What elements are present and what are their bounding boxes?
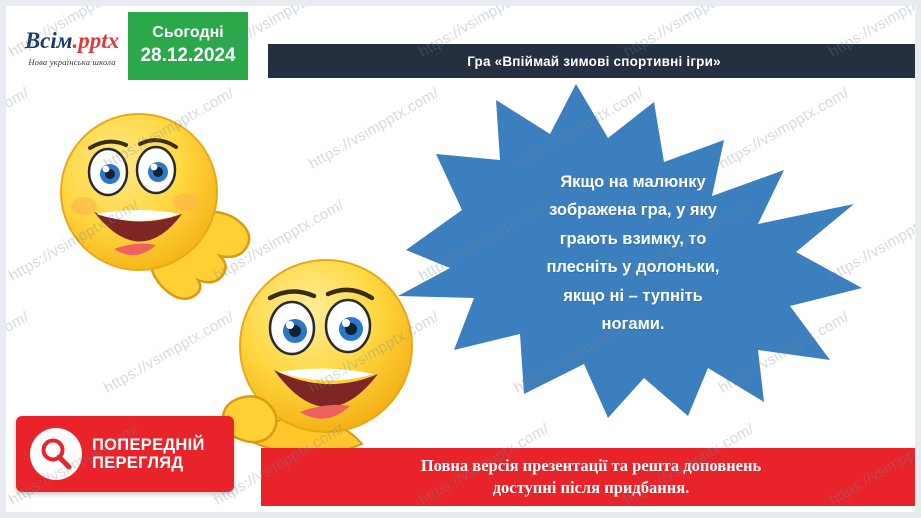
date-badge-label: Сьогодні: [152, 23, 223, 44]
callout-line-6: ногами.: [488, 310, 778, 338]
preview-badge[interactable]: ПОПЕРЕДНІЙ ПЕРЕГЛЯД: [16, 416, 234, 492]
callout-line-1: Якщо на малюнку: [488, 168, 778, 196]
callout-line-5: якщо ні – тупніть: [488, 282, 778, 310]
logo-word: Всім: [25, 28, 73, 53]
magnifier-icon: [30, 428, 82, 480]
logo-subtitle: Нова українська школа: [28, 57, 115, 67]
date-badge-value: 28.12.2024: [140, 44, 235, 69]
slide-header-bar: Гра «Впіймай зимові спортивні ігри»: [268, 44, 920, 78]
bottom-notice-bar: Повна версія презентації та решта доповн…: [261, 448, 921, 506]
bottom-notice-line2: доступні після придбання.: [493, 477, 690, 499]
star-callout: Якщо на малюнку зображена гра, у яку гра…: [392, 82, 872, 422]
date-badge: Сьогодні 28.12.2024: [128, 12, 248, 80]
slide-canvas: Якщо на малюнку зображена гра, у яку гра…: [0, 0, 921, 518]
page-title: Гра «Впіймай зимові спортивні ігри»: [467, 54, 721, 69]
callout-line-2: зображена гра, у яку: [488, 196, 778, 224]
preview-badge-text: ПОПЕРЕДНІЙ ПЕРЕГЛЯД: [92, 436, 205, 473]
preview-badge-line1: ПОПЕРЕДНІЙ: [92, 436, 205, 454]
callout-text: Якщо на малюнку зображена гра, у яку гра…: [488, 168, 778, 338]
logo-main-text: Всім.pptx: [25, 29, 119, 52]
logo-ext: .pptx: [73, 28, 120, 53]
watermark-text: https://vsimpptx.com/: [0, 308, 32, 396]
callout-line-3: грають взимку, то: [488, 225, 778, 253]
callout-line-4: плесніть у долоньки,: [488, 253, 778, 281]
bottom-notice-line1: Повна версія презентації та решта доповн…: [421, 455, 761, 477]
watermark-text: https://vsimpptx.com/: [0, 84, 32, 172]
preview-badge-line2: ПЕРЕГЛЯД: [92, 454, 205, 472]
site-logo[interactable]: Всім.pptx Нова українська школа: [12, 12, 132, 84]
